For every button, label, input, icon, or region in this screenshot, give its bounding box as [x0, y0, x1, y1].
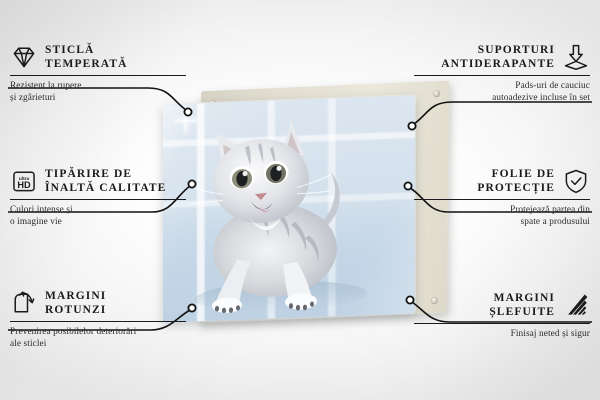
feature-tempered-glass: STICLĂ TEMPERATĂ Rezistent la rupere și …	[10, 42, 186, 105]
feature-heading: FOLIE DE PROTECȚIE	[414, 166, 590, 196]
title-line-2: PROTECȚIE	[477, 182, 555, 194]
title-line-2: TEMPERATĂ	[45, 58, 128, 70]
desc-line-1: Prevenirea posibilelor deteriorări	[10, 327, 136, 337]
divider	[10, 75, 186, 76]
diagonal-stripes-icon	[562, 291, 590, 319]
title-line-2: ÎNALTĂ CALITATE	[45, 182, 166, 194]
desc-line-1: Finisaj neted și sigur	[511, 329, 590, 339]
feature-heading: ultra HD TIPĂRIRE DE ÎNALTĂ CALITATE	[10, 166, 186, 196]
title-line-1: TIPĂRIRE DE	[45, 168, 132, 180]
desc-line-2: o imagine vie	[10, 217, 62, 227]
feature-title: FOLIE DE PROTECȚIE	[477, 167, 555, 195]
divider	[10, 199, 186, 200]
feature-description: Finisaj neted și sigur	[414, 328, 590, 340]
desc-line-2: ale sticlei	[10, 339, 46, 349]
feature-description: Prevenirea posibilelor deteriorări ale s…	[10, 326, 186, 351]
desc-line-1: Rezistent la rupere	[10, 81, 82, 91]
feature-title: MARGINI ȘLEFUITE	[489, 291, 555, 319]
title-line-1: MARGINI	[494, 292, 555, 304]
desc-line-2: și zgârieturi	[10, 93, 55, 103]
feature-heading: MARGINI ROTUNZI	[10, 288, 186, 318]
title-line-2: ȘLEFUITE	[489, 306, 555, 318]
desc-line-2: autoadezive incluse în set	[492, 93, 590, 103]
feature-description: Rezistent la rupere și zgârieturi	[10, 80, 186, 105]
title-line-1: FOLIE DE	[492, 168, 555, 180]
divider	[414, 323, 590, 324]
desc-line-1: Protejează partea din	[510, 205, 590, 215]
press-pad-icon	[562, 43, 590, 71]
product-visual	[163, 86, 448, 320]
feature-title: SUPORTURI ANTIDERAPANTE	[441, 43, 555, 71]
feature-heading: SUPORTURI ANTIDERAPANTE	[414, 42, 590, 72]
divider	[414, 199, 590, 200]
feature-rounded-edges: MARGINI ROTUNZI Prevenirea posibilelor d…	[10, 288, 186, 351]
diamond-icon	[10, 43, 38, 71]
rounded-corner-icon	[10, 289, 38, 317]
feature-polished-edges: MARGINI ȘLEFUITE Finisaj neted și sigur	[414, 290, 590, 340]
feature-heading: STICLĂ TEMPERATĂ	[10, 42, 186, 72]
feature-description: Protejează partea din spate a produsului	[414, 204, 590, 229]
divider	[414, 75, 590, 76]
title-line-1: STICLĂ	[45, 44, 94, 56]
ultra-hd-icon: ultra HD	[10, 167, 38, 195]
desc-line-1: Pads-uri de cauciuc	[515, 81, 590, 91]
title-line-1: SUPORTURI	[478, 44, 555, 56]
infographic-canvas: STICLĂ TEMPERATĂ Rezistent la rupere și …	[0, 0, 600, 400]
feature-title: MARGINI ROTUNZI	[45, 289, 106, 317]
feature-heading: MARGINI ȘLEFUITE	[414, 290, 590, 320]
title-line-2: ROTUNZI	[45, 304, 106, 316]
title-line-1: MARGINI	[45, 290, 106, 302]
tempered-glass-panel	[163, 95, 415, 322]
feature-title: STICLĂ TEMPERATĂ	[45, 43, 128, 71]
feature-anti-slip-supports: SUPORTURI ANTIDERAPANTE Pads-uri de cauc…	[414, 42, 590, 105]
feature-description: Pads-uri de cauciuc autoadezive incluse …	[414, 80, 590, 105]
svg-text:HD: HD	[17, 180, 31, 190]
feature-protective-film: FOLIE DE PROTECȚIE Protejează partea din…	[414, 166, 590, 229]
desc-line-1: Culori intense și	[10, 205, 73, 215]
feature-title: TIPĂRIRE DE ÎNALTĂ CALITATE	[45, 167, 166, 195]
shield-check-icon	[562, 167, 590, 195]
feature-high-quality-print: ultra HD TIPĂRIRE DE ÎNALTĂ CALITATE Cul…	[10, 166, 186, 229]
divider	[10, 321, 186, 322]
desc-line-2: spate a produsului	[521, 217, 590, 227]
title-line-2: ANTIDERAPANTE	[441, 58, 555, 70]
feature-description: Culori intense și o imagine vie	[10, 204, 186, 229]
kitten-illustration	[163, 95, 415, 322]
